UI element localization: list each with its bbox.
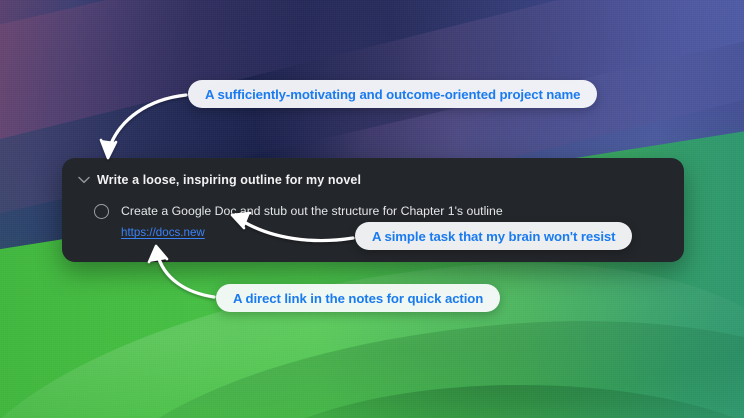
- screenshot-root: Write a loose, inspiring outline for my …: [0, 0, 744, 418]
- unchecked-circle-icon[interactable]: [94, 204, 109, 219]
- annotation-pill-simple-task: A simple task that my brain won't resist: [355, 222, 632, 250]
- annotation-pill-project-name: A sufficiently-motivating and outcome-or…: [188, 80, 597, 108]
- annotation-pill-direct-link: A direct link in the notes for quick act…: [216, 284, 500, 312]
- task-text: Create a Google Doc and stub out the str…: [121, 202, 503, 220]
- project-header-row[interactable]: Write a loose, inspiring outline for my …: [62, 169, 361, 191]
- project-title: Write a loose, inspiring outline for my …: [97, 173, 361, 187]
- task-link[interactable]: https://docs.new: [121, 226, 205, 239]
- chevron-down-icon[interactable]: [73, 176, 95, 184]
